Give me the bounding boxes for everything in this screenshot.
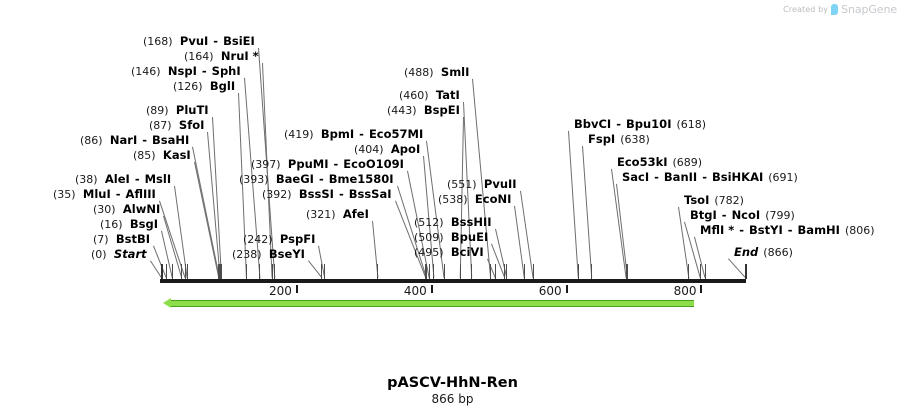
site-position: (799) xyxy=(765,209,795,222)
sequence-tick xyxy=(700,264,701,279)
site-position: (443) xyxy=(387,104,417,117)
leader-line xyxy=(308,260,322,278)
plasmid-name: pASCV-HhN-Ren xyxy=(0,375,905,391)
restriction-site-label[interactable]: (16) BsgI xyxy=(100,218,158,231)
sequence-terminus-label: End xyxy=(734,245,758,259)
orf-arrow-body[interactable] xyxy=(171,300,694,307)
sequence-tick xyxy=(705,264,706,279)
enzyme-name: TatI xyxy=(436,88,460,102)
site-position: (87) xyxy=(149,119,172,132)
site-position: (38) xyxy=(75,173,98,186)
enzyme-name: Bme1580I xyxy=(329,172,394,186)
enzyme-name: BseYI xyxy=(269,247,305,261)
enzyme-name: BssSaI xyxy=(349,187,392,201)
enzyme-name: NruI * xyxy=(221,49,259,63)
enzyme-name: BpmI xyxy=(321,127,354,141)
restriction-site-label[interactable]: (443) BspEI xyxy=(387,104,460,117)
site-enzyme-names: PluTI xyxy=(176,103,209,117)
site-position: (392) xyxy=(262,188,292,201)
site-position: (238) xyxy=(232,248,262,261)
site-position: (495) xyxy=(414,246,444,259)
enzyme-name: PpuMI xyxy=(288,157,329,171)
restriction-site-label[interactable]: (392) BssSI - BssSaI xyxy=(262,188,392,201)
snapgene-watermark: Created by SnapGene xyxy=(783,3,897,16)
enzyme-separator: - xyxy=(130,172,145,186)
enzyme-name: AfeI xyxy=(343,207,369,221)
restriction-site-label[interactable]: (393) BaeGI - Bme1580I xyxy=(239,173,394,186)
site-position: (168) xyxy=(143,35,173,48)
enzyme-name: BglI xyxy=(210,79,235,93)
site-enzyme-names: TatI xyxy=(436,88,460,102)
site-position: (618) xyxy=(676,118,706,131)
site-enzyme-names: KasI xyxy=(163,148,191,162)
enzyme-separator: - xyxy=(328,157,343,171)
site-position: (164) xyxy=(184,50,214,63)
enzyme-separator: - xyxy=(717,208,732,222)
site-position: (460) xyxy=(399,89,429,102)
enzyme-separator: - xyxy=(137,133,152,147)
restriction-site-label[interactable]: (238) BseYI xyxy=(232,248,305,261)
enzyme-separator: - xyxy=(697,170,712,184)
site-enzyme-names: BssHII xyxy=(451,215,492,229)
plasmid-size: 866 bp xyxy=(0,392,905,406)
site-enzyme-names: PpuMI - EcoO109I xyxy=(288,157,404,171)
site-enzyme-names: BtgI - NcoI xyxy=(690,208,760,222)
sequence-tick xyxy=(627,264,628,279)
site-enzyme-names: AfeI xyxy=(343,207,369,221)
site-enzyme-names: BglI xyxy=(210,79,235,93)
enzyme-separator: - xyxy=(611,117,626,131)
site-enzyme-names: BseYI xyxy=(269,247,305,261)
enzyme-name: Eco53kI xyxy=(617,155,668,169)
sequence-tick xyxy=(524,264,525,279)
restriction-site-label[interactable]: MflI * - BstYI - BamHI(806) xyxy=(700,224,875,237)
enzyme-name: BsgI xyxy=(130,217,158,231)
enzyme-name: BamHI xyxy=(798,223,840,237)
enzyme-name: KasI xyxy=(163,148,191,162)
site-position: (7) xyxy=(93,233,109,246)
sequence-tick xyxy=(259,264,260,279)
enzyme-name: BsiHKAI xyxy=(712,170,763,184)
ruler-label: 400 xyxy=(389,284,427,298)
restriction-site-label[interactable]: (509) BpuEI xyxy=(414,231,488,244)
ruler-tick xyxy=(431,285,433,293)
leader-line xyxy=(568,131,579,278)
enzyme-separator: - xyxy=(734,223,749,237)
site-position: (404) xyxy=(354,143,384,156)
site-enzyme-names: End xyxy=(734,245,758,259)
restriction-site-label[interactable]: (89) PluTI xyxy=(146,104,209,117)
ruler-tick xyxy=(296,285,298,293)
site-enzyme-names: AlwNI xyxy=(123,202,160,216)
enzyme-name: PspFI xyxy=(280,232,315,246)
sequence-tick xyxy=(274,264,275,279)
site-position: (0) xyxy=(91,248,107,261)
enzyme-name: ApoI xyxy=(391,142,420,156)
site-position: (806) xyxy=(845,224,875,237)
restriction-site-label[interactable]: SacI - BanII - BsiHKAI(691) xyxy=(622,171,798,184)
enzyme-name: TsoI xyxy=(684,193,709,207)
enzyme-name: AleI xyxy=(105,172,130,186)
watermark-brand: SnapGene xyxy=(841,3,897,16)
sequence-tick xyxy=(377,264,378,279)
enzyme-name: BssSI xyxy=(299,187,334,201)
enzyme-name: SacI xyxy=(622,170,649,184)
restriction-site-label[interactable]: (460) TatI xyxy=(399,89,460,102)
enzyme-name: SmlI xyxy=(441,65,470,79)
site-enzyme-names: ApoI xyxy=(391,142,420,156)
site-position: (488) xyxy=(404,66,434,79)
sequence-tick xyxy=(324,264,325,279)
enzyme-separator: - xyxy=(314,172,329,186)
sequence-tick xyxy=(272,264,273,279)
sequence-tick xyxy=(161,264,163,279)
enzyme-separator: - xyxy=(208,34,223,48)
ruler-label: 800 xyxy=(658,284,696,298)
site-position: (638) xyxy=(620,133,650,146)
enzyme-name: AlwNI xyxy=(123,202,160,216)
site-enzyme-names: PvuII xyxy=(484,177,517,191)
enzyme-name: FspI xyxy=(588,132,615,146)
sequence-tick xyxy=(429,264,430,279)
sequence-tick xyxy=(506,264,507,279)
site-position: (397) xyxy=(251,158,281,171)
site-position: (86) xyxy=(80,134,103,147)
sequence-tick xyxy=(460,264,461,279)
site-enzyme-names: BspEI xyxy=(424,103,460,117)
enzyme-name: NarI xyxy=(110,133,137,147)
enzyme-name: SfoI xyxy=(179,118,204,132)
ruler-tick xyxy=(566,285,568,293)
restriction-site-label[interactable]: FspI(638) xyxy=(588,133,650,146)
restriction-site-label[interactable]: (7) BstBI xyxy=(93,233,150,246)
site-enzyme-names: BstBI xyxy=(116,232,150,246)
site-position: (538) xyxy=(438,193,468,206)
restriction-site-label[interactable]: (86) NarI - BsaHI xyxy=(80,134,189,147)
site-enzyme-names: BbvCI - Bpu10I xyxy=(574,117,671,131)
enzyme-separator: - xyxy=(354,127,369,141)
restriction-site-label[interactable]: (164) NruI * xyxy=(184,50,259,63)
ruler-label: 600 xyxy=(524,284,562,298)
restriction-site-label[interactable]: Eco53kI(689) xyxy=(617,156,702,169)
site-enzyme-names: TsoI xyxy=(684,193,709,207)
enzyme-name: BspEI xyxy=(424,103,460,117)
enzyme-name: EcoO109I xyxy=(343,157,404,171)
watermark-prefix: Created by xyxy=(783,5,828,14)
enzyme-name: MslI xyxy=(145,172,172,186)
site-enzyme-names: SacI - BanII - BsiHKAI xyxy=(622,170,763,184)
enzyme-name: BstYI xyxy=(749,223,783,237)
sequence-tick xyxy=(172,264,173,279)
enzyme-separator: - xyxy=(197,64,212,78)
enzyme-name: MluI xyxy=(83,187,111,201)
restriction-site-label[interactable]: (551) PvuII xyxy=(447,178,517,191)
sequence-tick xyxy=(444,264,445,279)
site-position: (30) xyxy=(93,203,116,216)
sequence-tick xyxy=(166,264,167,279)
ruler-label: 200 xyxy=(254,284,292,298)
site-enzyme-names: Start xyxy=(114,247,147,261)
enzyme-name: AflIII xyxy=(126,187,156,201)
plasmid-map-canvas: Created by SnapGene (168) PvuI - BsiEI(1… xyxy=(0,0,905,415)
restriction-site-label[interactable]: (397) PpuMI - EcoO109I xyxy=(251,158,404,171)
restriction-site-label[interactable]: (538) EcoNI xyxy=(438,193,511,206)
enzyme-separator: - xyxy=(111,187,126,201)
sequence-tick xyxy=(221,264,222,279)
restriction-site-label[interactable]: (168) PvuI - BsiEI xyxy=(143,35,255,48)
site-enzyme-names: SfoI xyxy=(179,118,204,132)
site-enzyme-names: BaeGI - Bme1580I xyxy=(276,172,394,186)
sequence-terminus-label: Start xyxy=(114,247,147,261)
enzyme-name: BsiEI xyxy=(223,34,255,48)
sequence-tick xyxy=(321,264,322,279)
sequence-tick xyxy=(433,264,434,279)
restriction-site-label[interactable]: (146) NspI - SphI xyxy=(131,65,241,78)
enzyme-separator: - xyxy=(334,187,349,201)
restriction-site-label[interactable]: (488) SmlI xyxy=(404,66,469,79)
restriction-site-label[interactable]: (404) ApoI xyxy=(354,143,420,156)
site-position: (866) xyxy=(763,246,793,259)
enzyme-name: BsaHI xyxy=(152,133,189,147)
restriction-site-label[interactable]: (85) KasI xyxy=(133,149,191,162)
site-enzyme-names: MluI - AflIII xyxy=(83,187,156,201)
site-position: (782) xyxy=(714,194,744,207)
orf-arrow-head[interactable] xyxy=(163,298,171,308)
site-position: (126) xyxy=(173,80,203,93)
site-enzyme-names: Eco53kI xyxy=(617,155,668,169)
site-enzyme-names: SmlI xyxy=(441,65,470,79)
enzyme-name: PvuI xyxy=(180,34,208,48)
site-position: (242) xyxy=(243,233,273,246)
enzyme-name: BaeGI xyxy=(276,172,314,186)
sequence-tick xyxy=(591,264,592,279)
sequence-tick xyxy=(533,264,534,279)
sequence-tick xyxy=(246,264,247,279)
restriction-site-label[interactable]: TsoI(782) xyxy=(684,194,744,207)
restriction-site-label[interactable]: (30) AlwNI xyxy=(93,203,160,216)
site-enzyme-names: EcoNI xyxy=(475,192,511,206)
enzyme-name: NcoI xyxy=(732,208,761,222)
enzyme-name: NspI xyxy=(168,64,197,78)
enzyme-name: BstBI xyxy=(116,232,150,246)
restriction-site-label[interactable]: (0) Start xyxy=(91,248,147,261)
restriction-site-label[interactable]: (35) MluI - AflIII xyxy=(53,188,156,201)
enzyme-name: BanII xyxy=(664,170,697,184)
site-position: (321) xyxy=(306,208,336,221)
site-enzyme-names: BpmI - Eco57MI xyxy=(321,127,423,141)
site-enzyme-names: PspFI xyxy=(280,232,315,246)
restriction-site-label[interactable]: BtgI - NcoI(799) xyxy=(690,209,795,222)
ruler-tick xyxy=(700,285,702,293)
restriction-site-label[interactable]: End(866) xyxy=(734,246,793,259)
site-position: (35) xyxy=(53,188,76,201)
sequence-tick xyxy=(495,264,496,279)
site-enzyme-names: BssSI - BssSaI xyxy=(299,187,392,201)
restriction-site-label[interactable]: (87) SfoI xyxy=(149,119,204,132)
site-enzyme-names: BciVI xyxy=(451,245,484,259)
restriction-site-label[interactable]: (126) BglI xyxy=(173,80,235,93)
sequence-tick xyxy=(745,264,747,279)
site-enzyme-names: BpuEI xyxy=(451,230,488,244)
site-position: (146) xyxy=(131,65,161,78)
enzyme-name: SphI xyxy=(212,64,241,78)
sequence-tick xyxy=(471,264,472,279)
sequence-tick xyxy=(181,264,182,279)
enzyme-name: BbvCI xyxy=(574,117,611,131)
enzyme-name: Bpu10I xyxy=(626,117,671,131)
sequence-tick xyxy=(688,264,689,279)
site-position: (512) xyxy=(414,216,444,229)
site-position: (551) xyxy=(447,178,477,191)
site-position: (85) xyxy=(133,149,156,162)
site-enzyme-names: NarI - BsaHI xyxy=(110,133,189,147)
sequence-tick xyxy=(504,264,505,279)
restriction-site-label[interactable]: (419) BpmI - Eco57MI xyxy=(284,128,423,141)
enzyme-name: PvuII xyxy=(484,177,517,191)
enzyme-name: MflI * xyxy=(700,223,734,237)
sequence-tick xyxy=(425,264,426,279)
sequence-tick xyxy=(490,264,491,279)
sequence-tick xyxy=(185,264,186,279)
site-position: (691) xyxy=(768,171,798,184)
enzyme-name: BciVI xyxy=(451,245,484,259)
enzyme-name: EcoNI xyxy=(475,192,511,206)
restriction-site-label[interactable]: (512) BssHII xyxy=(414,216,492,229)
site-position: (509) xyxy=(414,231,444,244)
enzyme-name: Eco57MI xyxy=(369,127,423,141)
site-enzyme-names: PvuI - BsiEI xyxy=(180,34,255,48)
sequence-tick xyxy=(218,264,219,279)
site-enzyme-names: MflI * - BstYI - BamHI xyxy=(700,223,840,237)
enzyme-name: BtgI xyxy=(690,208,717,222)
site-position: (89) xyxy=(146,104,169,117)
site-enzyme-names: FspI xyxy=(588,132,615,146)
site-enzyme-names: NspI - SphI xyxy=(168,64,241,78)
enzyme-name: BssHII xyxy=(451,215,492,229)
enzyme-name: PluTI xyxy=(176,103,209,117)
enzyme-separator: - xyxy=(649,170,664,184)
site-position: (689) xyxy=(673,156,703,169)
site-enzyme-names: NruI * xyxy=(221,49,259,63)
site-enzyme-names: AleI - MslI xyxy=(105,172,171,186)
restriction-site-label[interactable]: (495) BciVI xyxy=(414,246,484,259)
enzyme-separator: - xyxy=(783,223,798,237)
enzyme-name: BpuEI xyxy=(451,230,488,244)
restriction-site-label[interactable]: (38) AleI - MslI xyxy=(75,173,171,186)
snapgene-logo-icon xyxy=(831,4,838,15)
site-position: (16) xyxy=(100,218,123,231)
site-enzyme-names: BsgI xyxy=(130,217,158,231)
restriction-site-label[interactable]: BbvCI - Bpu10I(618) xyxy=(574,118,706,131)
sequence-axis-line xyxy=(160,279,746,283)
restriction-site-label[interactable]: (321) AfeI xyxy=(306,208,369,221)
leader-line xyxy=(728,258,746,278)
restriction-site-label[interactable]: (242) PspFI xyxy=(243,233,315,246)
leader-line xyxy=(582,146,592,278)
site-position: (419) xyxy=(284,128,314,141)
sequence-tick xyxy=(578,264,579,279)
sequence-tick xyxy=(187,264,188,279)
site-position: (393) xyxy=(239,173,269,186)
